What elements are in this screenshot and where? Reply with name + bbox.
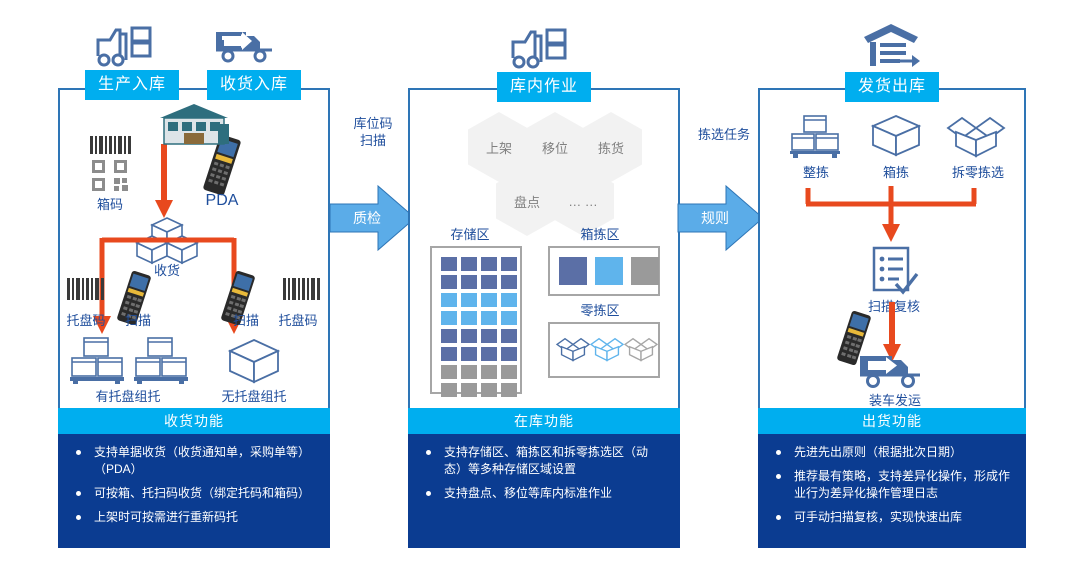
storage-cell [481,383,497,397]
forklift-icon-inbound [92,20,154,68]
storage-cell [501,329,517,343]
connector-label-location-scan: 库位码 扫描 [336,115,410,149]
bullet-item: 可手动扫描复核，实现快速出库 [772,509,1012,526]
bullet-item: 支持单据收货（收货通知单，采购单等）（PDA） [72,444,316,478]
case-pick-swatches [559,257,659,285]
function-title-inwarehouse: 在库功能 [408,408,680,434]
storage-cell [441,311,457,325]
connector-arrow-rule[interactable]: 规则 [678,184,764,252]
piece-pick-icon [948,114,1004,158]
storage-cell [461,365,477,379]
zone-label-storage: 存储区 [428,224,512,243]
storage-cell [441,275,457,289]
connector-label-picking-task: 拣选任务 [682,126,766,143]
case-pick-zone-box [548,246,660,296]
panel-inbound: 箱码 PDA [58,88,330,410]
storage-cell [501,275,517,289]
case-pick-label: 箱拣 [860,162,932,181]
storage-cell [481,311,497,325]
connector-arrow-quality-check[interactable]: 质检 [330,184,416,252]
piece-pick-label: 拆零拣选 [940,162,1016,181]
piece-pick-open-box [557,332,589,366]
storage-cell [481,347,497,361]
function-title-outbound: 出货功能 [758,408,1026,434]
storage-cell [501,365,517,379]
storage-zone-box [430,246,522,394]
storage-cell [461,293,477,307]
storage-cell [481,275,497,289]
tab-outbound[interactable]: 发货出库 [845,72,939,102]
pallet-code-right-icon [282,278,322,300]
bullet-item: 支持盘点、移位等库内标准作业 [422,485,666,502]
without-pallet-label: 无托盘组托 [194,386,314,405]
carton-code-icon [88,136,132,192]
storage-cell [441,365,457,379]
function-body-inbound: 支持单据收货（收货通知单，采购单等）（PDA） 可按箱、托扫码收货（绑定托码和箱… [58,434,330,548]
loading-ship-icon [856,346,934,392]
storage-cell [461,347,477,361]
zone-label-case-pick: 箱拣区 [558,224,642,243]
scan-check-icon [868,246,918,296]
panel-outbound: 整拣 箱拣 拆零拣选 [758,88,1026,410]
storage-cell [501,311,517,325]
full-pick-label: 整拣 [780,162,852,181]
storage-cell [441,293,457,307]
storage-cell [481,329,497,343]
bullet-item: 推荐最有策略，支持差异化操作，形成作业行为差异化操作管理日志 [772,468,1012,502]
storage-cell [441,383,457,397]
storage-cell [501,293,517,307]
tab-production-inbound[interactable]: 生产入库 [85,70,179,100]
storage-cell [441,329,457,343]
pda-label: PDA [196,192,248,210]
pick-merge-arrows [802,182,982,244]
bullet-item: 支持存储区、箱拣区和拆零拣选区（动态）等多种存储区域设置 [422,444,666,478]
case-pick-icon [870,114,922,158]
panel-inwarehouse: 上架 移位 拣货 盘点 … … 存储区 箱拣区 零拣区 [408,88,680,410]
piece-pick-open-box [591,332,623,366]
full-pick-icon [788,114,844,158]
with-pallet-label: 有托盘组托 [68,386,188,405]
case-pick-swatch [631,257,659,285]
connector-arrow-label: 质检 [324,208,410,228]
function-title-inbound: 收货功能 [58,408,330,434]
case-pick-swatch [595,257,623,285]
pallet-code-left-icon [66,278,106,300]
storage-cell [461,329,477,343]
function-body-outbound: 先进先出原则（根据批次日期） 推荐最有策略，支持差异化操作，形成作业行为差异化操… [758,434,1026,548]
function-body-inwarehouse: 支持存储区、箱拣区和拆零拣选区（动态）等多种存储区域设置 支持盘点、移位等库内标… [408,434,680,548]
connector-arrow-label: 规则 [672,208,758,228]
storage-cell [461,257,477,271]
storage-cell [481,257,497,271]
bullet-item: 上架时可按需进行重新码托 [72,509,316,526]
zone-label-piece-pick: 零拣区 [558,300,642,319]
loading-ship-label: 装车发运 [852,390,938,409]
carton-code-label: 箱码 [84,194,136,213]
piece-pick-open-box [625,332,657,366]
storage-cell [481,293,497,307]
pallet-code-right-label: 托盘码 [270,310,326,329]
piece-pick-zone-box [548,322,660,378]
tab-inwarehouse[interactable]: 库内作业 [497,72,591,102]
bullet-item: 先进先出原则（根据批次日期） [772,444,1012,461]
pallet-code-left-label: 托盘码 [58,310,114,329]
diagram-canvas: 箱码 PDA [0,0,1080,570]
scan-left-label: 扫描 [114,310,162,329]
delivery-truck-icon-inbound [212,22,282,66]
tab-receiving-inbound[interactable]: 收货入库 [207,70,301,100]
warehouse-export-icon [862,22,920,68]
storage-cell [441,257,457,271]
storage-cell [501,257,517,271]
storage-cell [481,365,497,379]
scan-right-label: 扫描 [222,310,270,329]
storage-cell [461,383,477,397]
bullet-item: 可按箱、托扫码收货（绑定托码和箱码） [72,485,316,502]
with-pallet-icon [70,336,186,384]
arrow-warehouse-to-receiving [154,144,174,220]
storage-cell [461,311,477,325]
warehouse-icon [158,102,230,146]
forklift-icon-inwarehouse [507,22,569,70]
storage-cell [461,275,477,289]
storage-grid [441,257,517,397]
storage-cell [501,347,517,361]
storage-cell [441,347,457,361]
piece-pick-boxes [557,332,657,366]
storage-cell [501,383,517,397]
without-pallet-icon [228,338,280,384]
case-pick-swatch [559,257,587,285]
